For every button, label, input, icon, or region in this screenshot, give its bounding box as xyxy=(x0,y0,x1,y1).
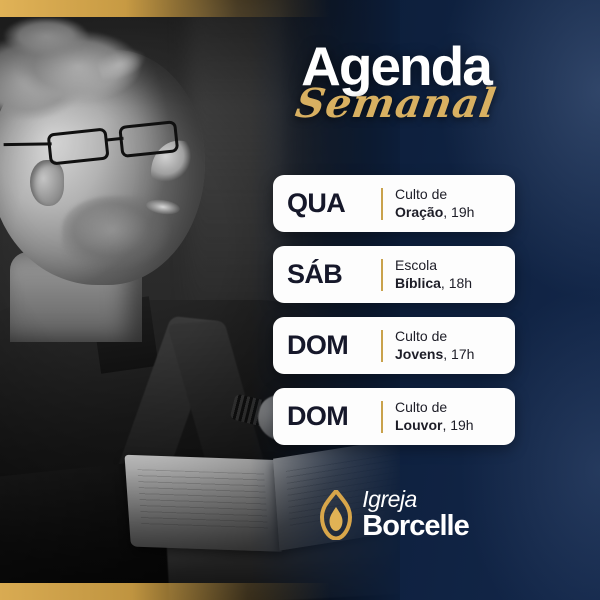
card-divider xyxy=(381,401,383,433)
schedule-time: 17h xyxy=(451,346,474,362)
schedule-line2: Louvor, 19h xyxy=(395,417,474,434)
card-divider xyxy=(381,188,383,220)
schedule-line1: Culto de xyxy=(395,399,474,416)
logo-line-2: Borcelle xyxy=(362,512,468,541)
schedule-list: QUA Culto de Oração, 19h SÁB Escola Bíbl… xyxy=(273,175,515,445)
schedule-card[interactable]: SÁB Escola Bíblica, 18h xyxy=(273,246,515,303)
schedule-details: Culto de Jovens, 17h xyxy=(395,328,474,362)
agenda-semanal-poster: Agenda Semanal QUA Culto de Oração, 19h … xyxy=(0,0,600,600)
schedule-day: SÁB xyxy=(287,261,379,288)
schedule-time: 19h xyxy=(451,204,474,220)
schedule-time: 19h xyxy=(450,417,473,433)
schedule-day: DOM xyxy=(287,403,379,430)
schedule-line2: Jovens, 17h xyxy=(395,346,474,363)
logo-line-1: Igreja xyxy=(362,488,468,511)
schedule-line1: Culto de xyxy=(395,328,474,345)
poster-headline: Agenda Semanal xyxy=(272,40,520,127)
schedule-line1: Culto de xyxy=(395,186,474,203)
schedule-card[interactable]: DOM Culto de Jovens, 17h xyxy=(273,317,515,374)
church-logo: Igreja Borcelle xyxy=(273,488,515,541)
schedule-details: Culto de Louvor, 19h xyxy=(395,399,474,433)
flame-icon xyxy=(319,490,353,540)
schedule-day: QUA xyxy=(287,190,379,217)
gold-accent-bar-bottom xyxy=(0,583,330,600)
headline-subtitle: Semanal xyxy=(268,80,523,127)
card-divider xyxy=(381,330,383,362)
schedule-details: Escola Bíblica, 18h xyxy=(395,257,472,291)
gold-accent-bar-top xyxy=(0,0,330,17)
schedule-event: Louvor xyxy=(395,417,442,433)
schedule-time: 18h xyxy=(449,275,472,291)
card-divider xyxy=(381,259,383,291)
schedule-card[interactable]: QUA Culto de Oração, 19h xyxy=(273,175,515,232)
schedule-line2: Bíblica, 18h xyxy=(395,275,472,292)
schedule-event: Bíblica xyxy=(395,275,441,291)
schedule-event: Jovens xyxy=(395,346,443,362)
schedule-details: Culto de Oração, 19h xyxy=(395,186,474,220)
schedule-card[interactable]: DOM Culto de Louvor, 19h xyxy=(273,388,515,445)
schedule-day: DOM xyxy=(287,332,379,359)
schedule-line1: Escola xyxy=(395,257,472,274)
schedule-event: Oração xyxy=(395,204,443,220)
schedule-line2: Oração, 19h xyxy=(395,204,474,221)
logo-text: Igreja Borcelle xyxy=(362,488,468,541)
